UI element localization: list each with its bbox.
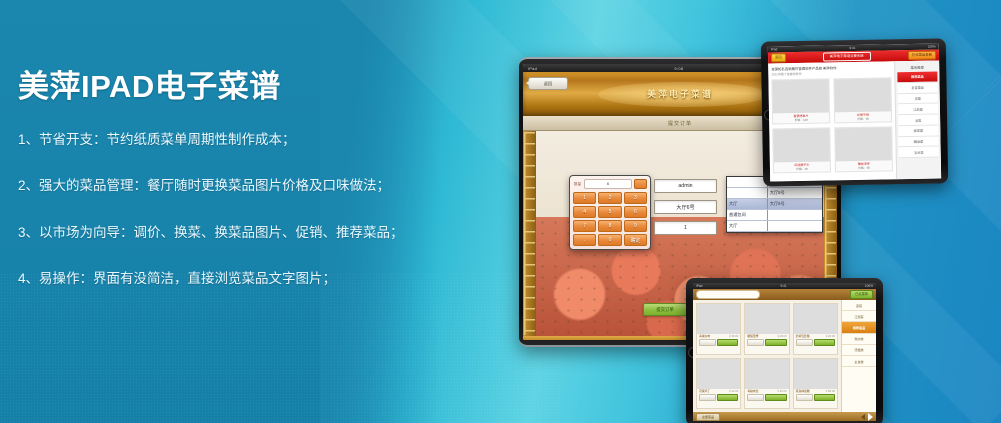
status-carrier: iPad <box>771 47 777 51</box>
menu-title-label: 美萍电子菜谱点餐系统 <box>823 52 871 62</box>
search-input[interactable] <box>696 290 760 299</box>
keypad-display-row: 数量 6 <box>573 179 647 189</box>
dish-photo <box>745 359 788 389</box>
table-area-cell <box>727 188 768 198</box>
table-name-cell: 大厅5号 <box>768 188 822 198</box>
dish-detail-button[interactable] <box>747 394 764 401</box>
keypad-key[interactable]: 6 <box>624 206 647 218</box>
backspace-icon[interactable] <box>634 179 647 189</box>
back-button-label: 返回 <box>544 81 552 87</box>
keypad-display-value: 6 <box>584 179 632 189</box>
dish-detail-button[interactable] <box>796 394 813 401</box>
keypad-key[interactable]: 9 <box>624 220 647 232</box>
add-dish-button[interactable] <box>717 339 738 346</box>
feature-bullet-2: 2、强大的菜品管理：餐厅随时更换菜品图片价格及口味做法； <box>18 176 448 196</box>
dish-photo <box>773 128 830 162</box>
table-field[interactable]: 大厅6号 <box>654 200 717 214</box>
keypad-key[interactable]: . <box>573 234 596 246</box>
category-item[interactable]: 江浙菜 <box>898 104 938 115</box>
status-battery: 100% <box>865 284 873 288</box>
table-area-cell <box>727 177 768 187</box>
view-ordered-button[interactable]: 已点菜品查看 <box>908 51 936 60</box>
feature-bullet-1: 1、节省开支：节约纸质菜单周期性制作成本； <box>18 130 448 150</box>
category-item-active[interactable]: 推荐菜品 <box>842 322 876 333</box>
dish-price: 价格：48 <box>774 166 830 172</box>
count-field[interactable]: 1 <box>654 221 717 235</box>
dish-photo <box>794 359 837 389</box>
table-name-cell: 大厅6号 <box>768 199 822 209</box>
status-time: 9:41 <box>849 46 855 50</box>
dish-card[interactable]: 青椒肉丝 ￥36.00 <box>744 358 789 410</box>
keypad-key[interactable]: 3 <box>624 192 647 204</box>
dish-price: 价格：128 <box>773 117 829 123</box>
keypad-key[interactable]: 7 <box>573 220 596 232</box>
dish-grid: 全国知名连锁餐饮管理软件产品商 美萍软件 2011中国十佳餐饮软件 香锅烤鱼片 … <box>768 61 896 181</box>
keypad-key-confirm[interactable]: 确定 <box>624 234 647 246</box>
category-sidebar[interactable]: 菜系推荐 推荐菜品 主营菜品 凉菜 江浙菜 汤类 家常菜 精品菜 五谷类 <box>894 61 941 180</box>
category-item[interactable]: 热炒类 <box>842 334 876 345</box>
tablet-order-device: iPad 9:41 100% 已点菜单 青椒炒肉 ￥38.00 <box>686 278 883 423</box>
order-dish-grid: 青椒炒肉 ￥38.00 糖醋里脊 ￥48.00 <box>693 300 841 412</box>
category-item[interactable]: 凉菜 <box>842 300 876 311</box>
dish-detail-button[interactable] <box>747 339 764 346</box>
status-time: 9:41 <box>781 284 787 288</box>
pagination-nav[interactable] <box>861 413 873 421</box>
category-item[interactable]: 主食类 <box>842 356 876 367</box>
menu-back-button[interactable]: 返回 <box>771 53 786 62</box>
dish-card[interactable]: 黑森林蛋糕 ￥58.00 <box>793 358 838 410</box>
greek-key-border-left <box>523 131 536 336</box>
keypad-key[interactable]: 0 <box>598 234 621 246</box>
dish-price: 价格：38 <box>836 165 892 171</box>
feature-bullet-4: 4、易操作：界面有没简洁，直接浏览菜品文字图片； <box>18 269 448 289</box>
table-area-cell: 大厅 <box>727 199 768 209</box>
feature-bullet-3: 3、以市场为向导：调价、换菜、换菜品图片、促销、推荐菜品； <box>18 223 448 243</box>
status-carrier: iPad <box>528 66 537 71</box>
table-name-cell <box>768 221 822 231</box>
add-dish-button[interactable] <box>765 394 786 401</box>
dish-photo <box>697 304 740 334</box>
prev-arrow-icon[interactable] <box>861 414 865 420</box>
dish-photo <box>834 78 891 112</box>
table-row[interactable]: 大厅5号 <box>727 188 822 199</box>
table-row-selected[interactable]: 大厅 大厅6号 <box>727 199 822 210</box>
table-area-cell: 大厅 <box>727 221 768 231</box>
submit-order-button[interactable]: 提交订单 <box>643 303 687 316</box>
next-arrow-icon[interactable] <box>868 413 873 421</box>
page-title: 美萍IPAD电子菜谱 <box>18 70 448 104</box>
category-item[interactable]: 汤羹类 <box>842 345 876 356</box>
order-body: 青椒炒肉 ￥38.00 糖醋里脊 ￥48.00 <box>693 300 876 412</box>
tablet-order-screen: iPad 9:41 100% 已点菜单 青椒炒肉 ￥38.00 <box>693 283 876 421</box>
category-item[interactable]: 江浙菜 <box>842 311 876 322</box>
dish-card[interactable]: 彩椒牛柳 价格：68 <box>833 77 892 123</box>
category-item[interactable]: 主营菜品 <box>897 82 937 93</box>
promo-banner: 美萍IPAD电子菜谱 1、节省开支：节约纸质菜单周期性制作成本； 2、强大的菜品… <box>0 0 1001 423</box>
dish-card[interactable]: 红烧狮子头 价格：48 <box>772 127 831 173</box>
category-item[interactable]: 凉菜 <box>898 93 938 104</box>
dish-card[interactable]: 精品凉拌 价格：38 <box>834 126 893 172</box>
category-item[interactable]: 精品菜 <box>898 136 938 147</box>
dish-detail-button[interactable] <box>796 339 813 346</box>
dish-photo <box>745 304 788 334</box>
order-toolbar: 已点菜单 <box>693 289 876 300</box>
add-dish-button[interactable] <box>814 394 835 401</box>
dish-card[interactable]: 青椒炒肉 ￥38.00 <box>696 303 741 355</box>
dish-detail-button[interactable] <box>699 339 716 346</box>
category-item[interactable]: 汤类 <box>898 115 938 126</box>
table-row[interactable]: 普通包间 <box>727 210 822 221</box>
dish-card[interactable]: 奶黄包套餐 ￥28.00 <box>793 303 838 355</box>
dish-photo <box>794 304 837 334</box>
keypad-key[interactable]: 5 <box>598 206 621 218</box>
keypad-key[interactable]: 8 <box>598 220 621 232</box>
dish-detail-button[interactable] <box>699 394 716 401</box>
table-name-cell <box>768 210 822 220</box>
keypad-key[interactable]: 1 <box>573 192 596 204</box>
dish-card[interactable]: 宫保鸡丁 ￥42.00 <box>696 358 741 410</box>
menu-body: 全国知名连锁餐饮管理软件产品商 美萍软件 2011中国十佳餐饮软件 香锅烤鱼片 … <box>768 61 941 182</box>
dish-photo <box>772 79 829 113</box>
category-item[interactable]: 五谷类 <box>899 147 939 158</box>
category-item-active[interactable]: 推荐菜品 <box>897 72 937 83</box>
user-field[interactable]: admin <box>654 179 717 193</box>
hero-copy: 美萍IPAD电子菜谱 1、节省开支：节约纸质菜单周期性制作成本； 2、强大的菜品… <box>18 70 448 315</box>
category-item[interactable]: 家常菜 <box>898 125 938 136</box>
add-dish-button[interactable] <box>814 339 835 346</box>
dish-photo <box>697 359 740 389</box>
sub-header-label: 提交订单 <box>668 120 692 127</box>
tablet-menu-screen: iPad 9:41 100% 返回 美萍电子菜谱点餐系统 已点菜品查看 全国知名… <box>768 44 941 182</box>
dish-card[interactable]: 糖醋里脊 ￥48.00 <box>744 303 789 355</box>
back-arrow-icon <box>526 80 530 86</box>
keypad-keys[interactable]: 1 2 3 4 5 6 7 8 9 . 0 确定 <box>573 192 647 246</box>
numeric-keypad[interactable]: 数量 6 1 2 3 4 5 6 7 8 9 . <box>569 175 651 250</box>
all-dishes-tab[interactable]: 全部菜品 <box>696 413 720 421</box>
order-category-sidebar[interactable]: 凉菜 江浙菜 推荐菜品 热炒类 汤羹类 主食类 <box>841 300 876 412</box>
keypad-key[interactable]: 4 <box>573 206 596 218</box>
status-carrier: iPad <box>696 284 702 288</box>
add-dish-button[interactable] <box>765 339 786 346</box>
tablet-menu-device: iPad 9:41 100% 返回 美萍电子菜谱点餐系统 已点菜品查看 全国知名… <box>761 38 949 186</box>
dish-card[interactable]: 香锅烤鱼片 价格：128 <box>771 78 830 124</box>
dish-price: 价格：68 <box>835 116 891 122</box>
promo-line-2: 2011中国十佳餐饮软件 <box>771 70 891 76</box>
dish-photo <box>835 127 892 161</box>
table-row[interactable]: 大厅 <box>727 221 822 232</box>
order-footer: 全部菜品 <box>693 412 876 421</box>
ordered-list-button[interactable]: 已点菜单 <box>850 290 873 299</box>
keypad-display-label: 数量 <box>573 182 582 187</box>
table-area-cell: 普通包间 <box>727 210 768 220</box>
keypad-key[interactable]: 2 <box>598 192 621 204</box>
status-battery: 100% <box>928 45 936 49</box>
order-form-fields: admin 大厅6号 1 <box>654 179 717 242</box>
status-time: 9:08 <box>674 66 683 71</box>
add-dish-button[interactable] <box>717 394 738 401</box>
